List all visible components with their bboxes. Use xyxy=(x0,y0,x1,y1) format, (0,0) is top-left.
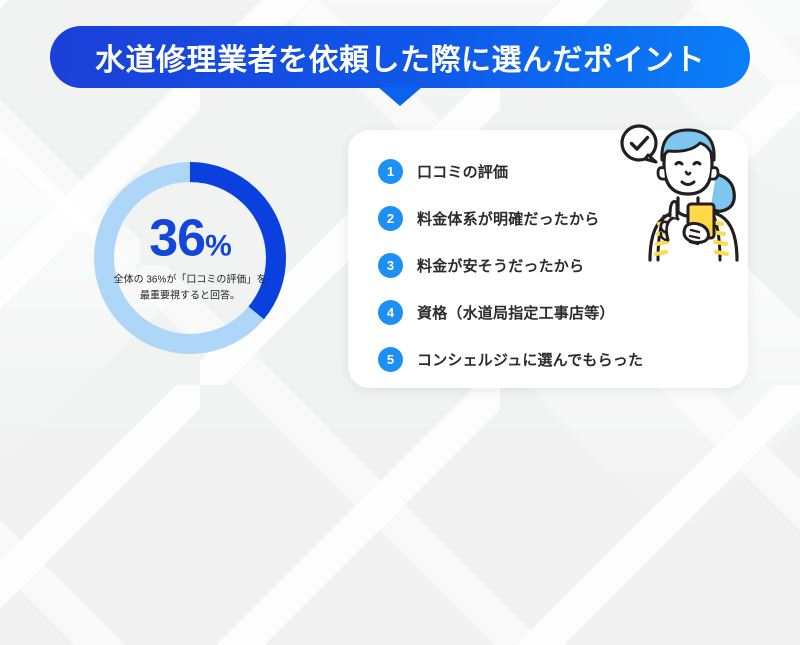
title-banner: 水道修理業者を依頼した際に選んだポイント xyxy=(50,26,750,88)
title-banner-body: 水道修理業者を依頼した際に選んだポイント xyxy=(50,26,750,88)
page-title: 水道修理業者を依頼した際に選んだポイント xyxy=(95,35,705,79)
list-item-label: 料金体系が明確だったから xyxy=(417,208,599,229)
rank-badge: 5 xyxy=(378,347,403,372)
donut-caption-line-2: 最重要視すると回答。 xyxy=(106,288,274,304)
donut-center-content: 36% 全体の 36%が「口コミの評価」を 最重要視すると回答。 xyxy=(92,213,288,304)
list-item-label: 料金が安そうだったから xyxy=(417,255,584,276)
rank-badge: 1 xyxy=(378,159,403,184)
rank-badge: 2 xyxy=(378,206,403,231)
woman-pointing-up-with-checkmark-bubble-icon xyxy=(612,112,764,264)
pointing-finger xyxy=(670,202,677,219)
donut-caption: 全体の 36%が「口コミの評価」を 最重要視すると回答。 xyxy=(106,273,274,304)
donut-percent: 36% xyxy=(106,213,274,265)
list-item-label: コンシェルジュに選んでもらった xyxy=(417,349,643,370)
donut-caption-line-1: 全体の 36%が「口コミの評価」を xyxy=(106,273,274,289)
rank-badge: 4 xyxy=(378,300,403,325)
donut-percent-symbol: % xyxy=(205,230,231,263)
donut-chart: 36% 全体の 36%が「口コミの評価」を 最重要視すると回答。 xyxy=(92,160,288,356)
list-item-label: 資格（水道局指定工事店等） xyxy=(417,302,615,323)
rank-badge: 3 xyxy=(378,253,403,278)
list-item[interactable]: 4 資格（水道局指定工事店等） xyxy=(348,289,748,336)
donut-percent-number: 36 xyxy=(149,210,205,268)
illustration-svg xyxy=(612,112,764,264)
speech-bubble-shape xyxy=(622,126,656,160)
banner-arrow-down-icon xyxy=(378,87,422,106)
list-item-label: 口コミの評価 xyxy=(417,161,508,182)
list-item[interactable]: 5 コンシェルジュに選んでもらった xyxy=(348,336,748,383)
